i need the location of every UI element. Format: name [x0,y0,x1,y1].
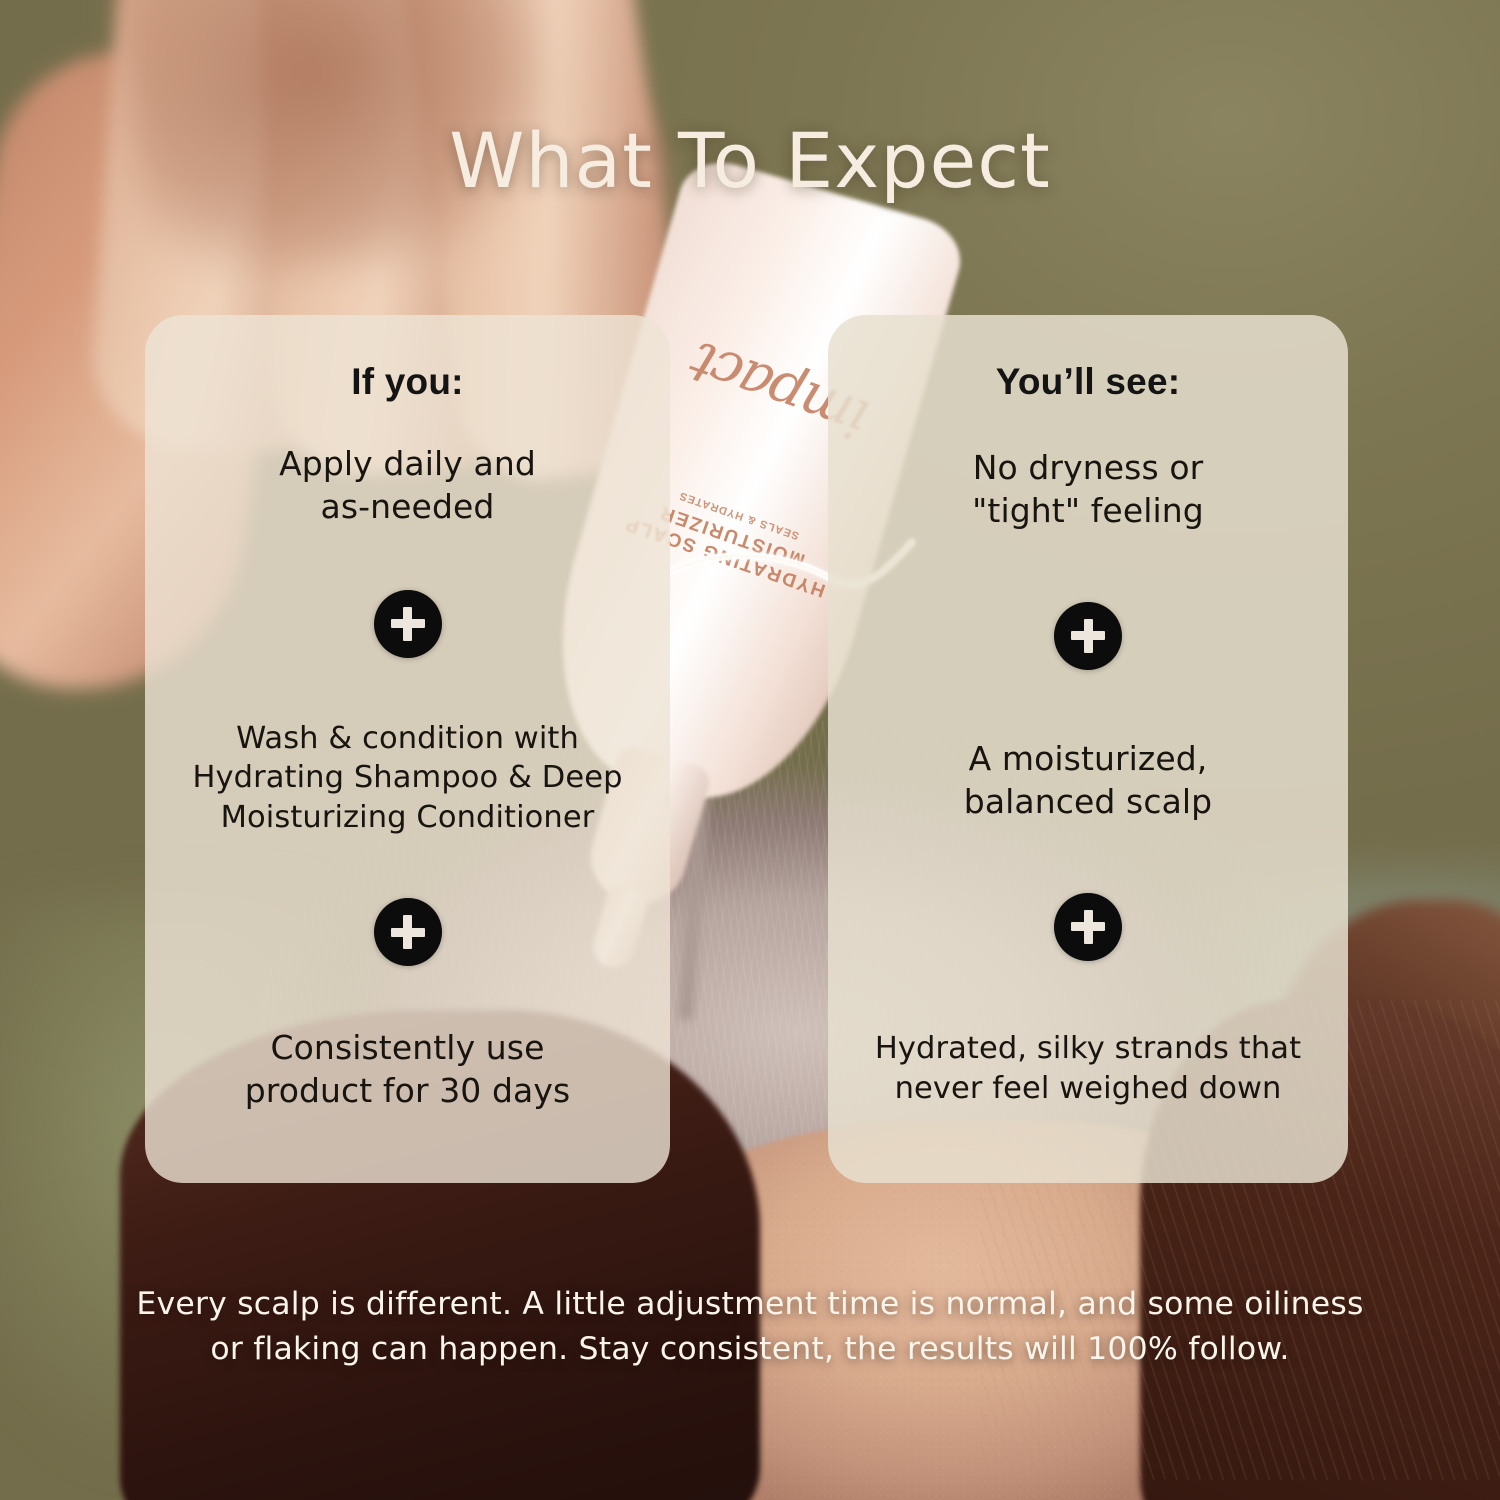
list-item: Apply daily andas-needed [275,443,540,529]
footer-disclaimer: Every scalp is different. A little adjus… [120,1282,1380,1371]
plus-icon [374,590,442,658]
card-youll-see: You’ll see: No dryness or"tight" feeling… [828,315,1348,1183]
list-item: Consistently useproduct for 30 days [241,1027,575,1113]
comparison-cards: If you: Apply daily andas-needed Wash & … [0,0,1500,1500]
list-item: No dryness or"tight" feeling [968,447,1208,533]
list-item: Wash & condition withHydrating Shampoo &… [188,719,626,838]
list-item: Hydrated, silky strands thatnever feel w… [871,1029,1305,1108]
product-infographic: impact HYDRATING SCALP MOISTURIZER SEALS… [0,0,1500,1500]
card-body-youll-see: No dryness or"tight" feeling A moisturiz… [862,413,1314,1143]
plus-icon [1054,602,1122,670]
card-heading-youll-see: You’ll see: [996,361,1181,403]
list-item: A moisturized,balanced scalp [960,738,1216,824]
card-heading-if-you: If you: [351,361,463,403]
card-if-you: If you: Apply daily andas-needed Wash & … [145,315,670,1183]
plus-icon [374,898,442,966]
plus-icon [1054,893,1122,961]
card-body-if-you: Apply daily andas-needed Wash & conditio… [179,413,636,1143]
